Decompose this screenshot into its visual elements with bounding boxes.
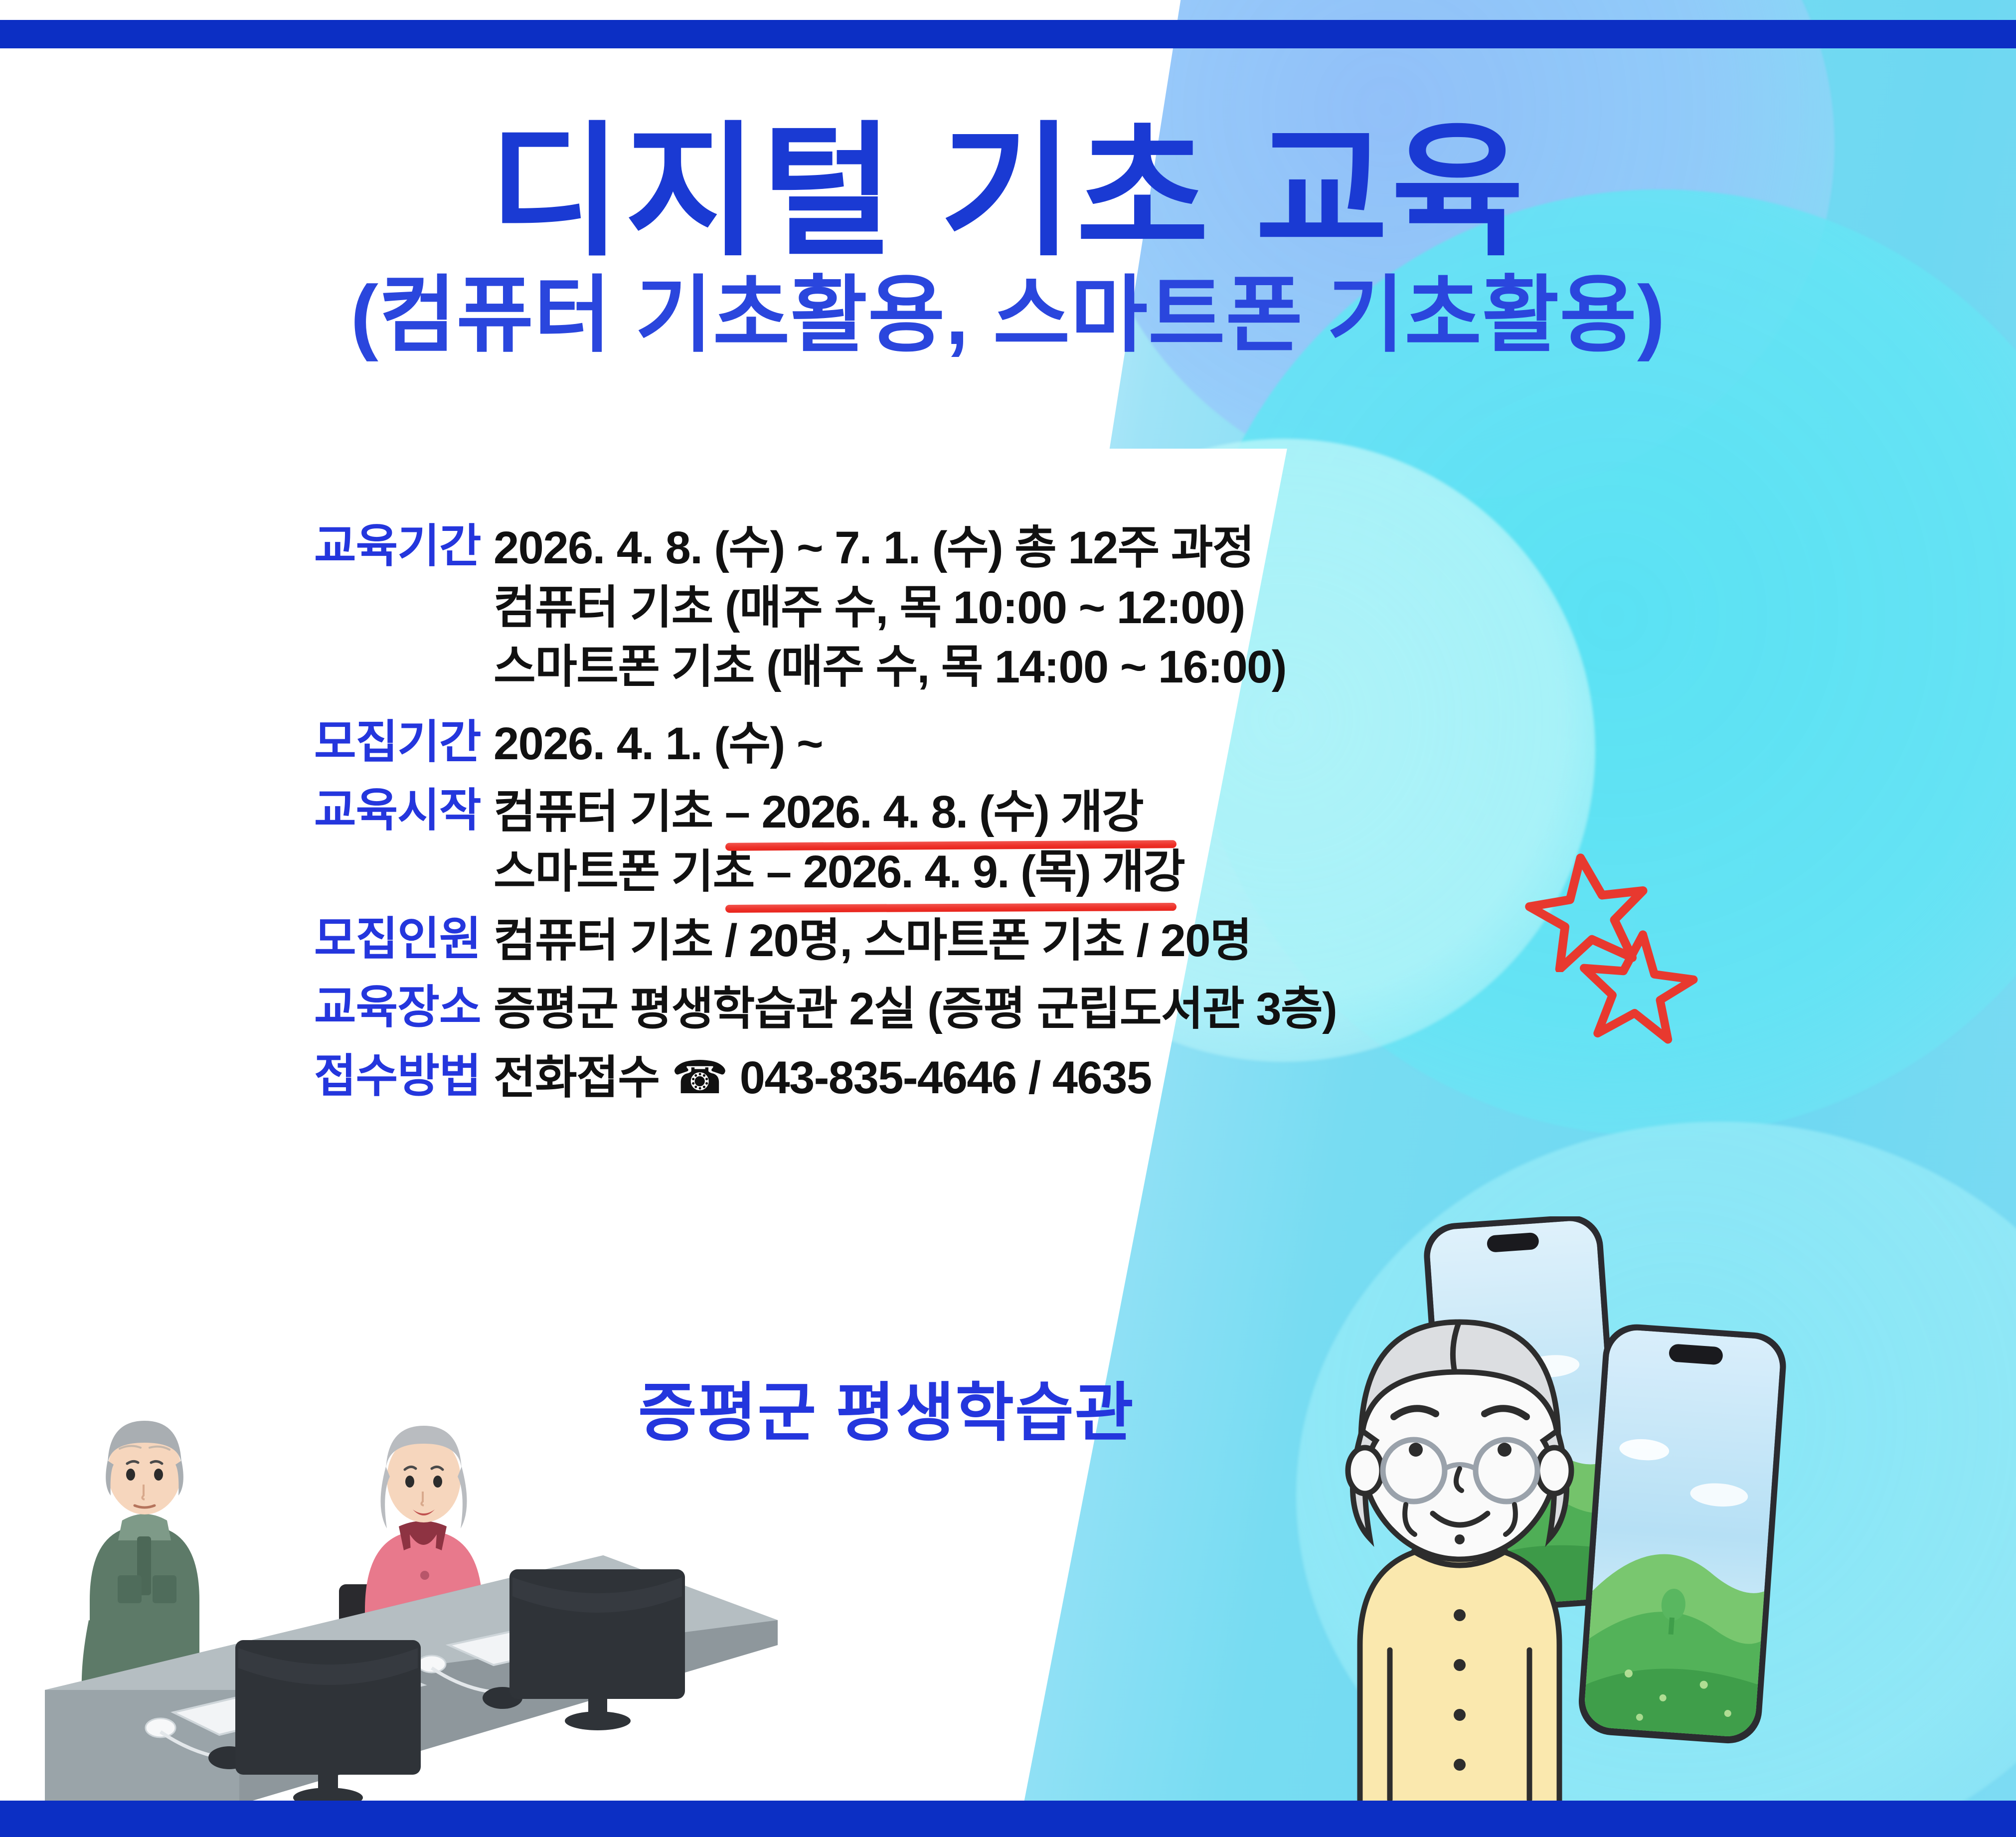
page-title: 디지털 기초 교육: [0, 120, 2016, 264]
info-label-period: 교육기간: [314, 518, 484, 574]
info-value-location: 증평군 평생학습관 2실 (증평 군립도서관 3층): [484, 980, 1859, 1039]
top-accent-bar: [0, 20, 2016, 48]
period-line-2: 컴퓨터 기초 (매주 수, 목 10:00 ~ 12:00): [494, 578, 1859, 638]
capacity-line-1: 컴퓨터 기초 / 20명, 스마트폰 기초 / 20명: [494, 911, 1859, 971]
info-value-recruit-period: 2026. 4. 1. (수) ~: [484, 714, 1859, 774]
info-label-recruit-period: 모집기간: [314, 714, 484, 770]
info-label-location: 교육장소: [314, 980, 484, 1035]
start-line-1-plain: 컴퓨터 기초 –: [494, 787, 762, 837]
info-row-recruit-period: 모집기간 2026. 4. 1. (수) ~: [314, 714, 1859, 774]
period-line-3: 스마트폰 기초 (매주 수, 목 14:00 ~ 16:00): [494, 638, 1859, 697]
info-row-apply: 접수방법 전화접수 ☎ 043-835-4646 / 4635: [314, 1048, 1859, 1108]
poster-root: 디지털 기초 교육 (컴퓨터 기초활용, 스마트폰 기초활용) 교육기간 202…: [0, 0, 2016, 1837]
start-line-1-emphasis: 2026. 4. 8. (수) 개강: [762, 787, 1143, 837]
info-label-start: 교육시작: [314, 783, 484, 838]
location-line-1: 증평군 평생학습관 2실 (증평 군립도서관 3층): [494, 980, 1859, 1039]
apply-line-1: 전화접수 ☎ 043-835-4646 / 4635: [494, 1048, 1859, 1108]
info-value-start: 컴퓨터 기초 – 2026. 4. 8. (수) 개강 스마트폰 기초 – 20…: [484, 783, 1859, 902]
smartphone-front: [1576, 1322, 1788, 1746]
page-subtitle: (컴퓨터 기초활용, 스마트폰 기초활용): [0, 273, 2016, 357]
info-label-apply: 접수방법: [314, 1048, 484, 1104]
info-value-apply: 전화접수 ☎ 043-835-4646 / 4635: [484, 1048, 1859, 1108]
info-row-period: 교육기간 2026. 4. 8. (수) ~ 7. 1. (수) 총 12주 과…: [314, 518, 1859, 697]
start-line-2: 스마트폰 기초 – 2026. 4. 9. (목) 개강: [494, 842, 1859, 902]
start-line-2-emphasis: 2026. 4. 9. (목) 개강: [803, 846, 1184, 897]
info-label-capacity: 모집인원: [314, 911, 484, 967]
start-line-1: 컴퓨터 기초 – 2026. 4. 8. (수) 개강: [494, 783, 1859, 842]
info-value-period: 2026. 4. 8. (수) ~ 7. 1. (수) 총 12주 과정 컴퓨터…: [484, 518, 1859, 697]
period-line-1: 2026. 4. 8. (수) ~ 7. 1. (수) 총 12주 과정: [494, 518, 1859, 578]
recruit-period-line-1: 2026. 4. 1. (수) ~: [494, 714, 1859, 774]
organization-name: 증평군 평생학습관: [638, 1361, 1135, 1453]
start-line-2-plain: 스마트폰 기초 –: [494, 846, 803, 897]
bottom-accent-bar: [0, 1801, 2016, 1837]
info-table: 교육기간 2026. 4. 8. (수) ~ 7. 1. (수) 총 12주 과…: [314, 518, 1859, 1117]
info-value-capacity: 컴퓨터 기초 / 20명, 스마트폰 기초 / 20명: [484, 911, 1859, 971]
headline-block: 디지털 기초 교육 (컴퓨터 기초활용, 스마트폰 기초활용): [0, 120, 2016, 357]
info-row-location: 교육장소 증평군 평생학습관 2실 (증평 군립도서관 3층): [314, 980, 1859, 1039]
illustration-elderly-woman-smartphones: [1306, 1216, 2016, 1805]
info-row-capacity: 모집인원 컴퓨터 기초 / 20명, 스마트폰 기초 / 20명: [314, 911, 1859, 971]
info-row-start: 교육시작 컴퓨터 기초 – 2026. 4. 8. (수) 개강 스마트폰 기초…: [314, 783, 1859, 902]
